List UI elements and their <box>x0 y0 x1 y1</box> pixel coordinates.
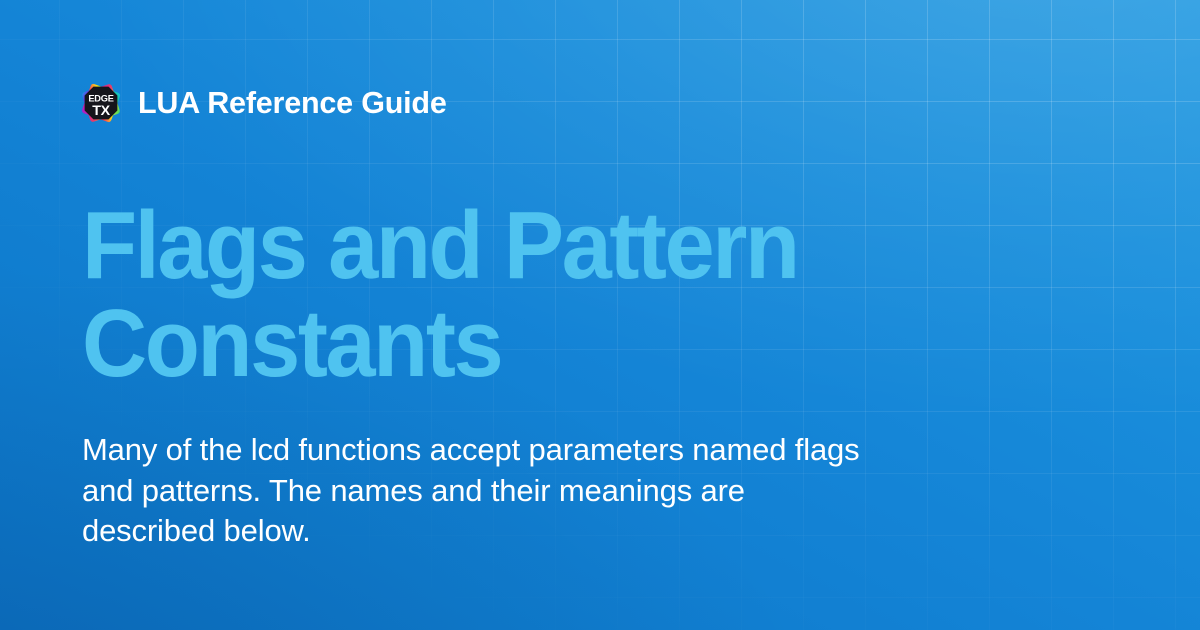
page-brand-title: LUA Reference Guide <box>138 88 447 119</box>
edgetx-logo-icon: EDGE TX <box>80 82 122 124</box>
page-title: Flags and Pattern Constants <box>82 197 984 393</box>
card-content: EDGE TX LUA Reference Guide Flags and Pa… <box>0 0 1200 630</box>
brand-header: EDGE TX LUA Reference Guide <box>80 80 447 126</box>
logo-tx-text: TX <box>92 103 110 119</box>
page-description: Many of the lcd functions accept paramet… <box>82 430 872 552</box>
open-graph-card: EDGE TX LUA Reference Guide Flags and Pa… <box>0 0 1200 630</box>
logo-edge-text: EDGE <box>88 93 113 103</box>
